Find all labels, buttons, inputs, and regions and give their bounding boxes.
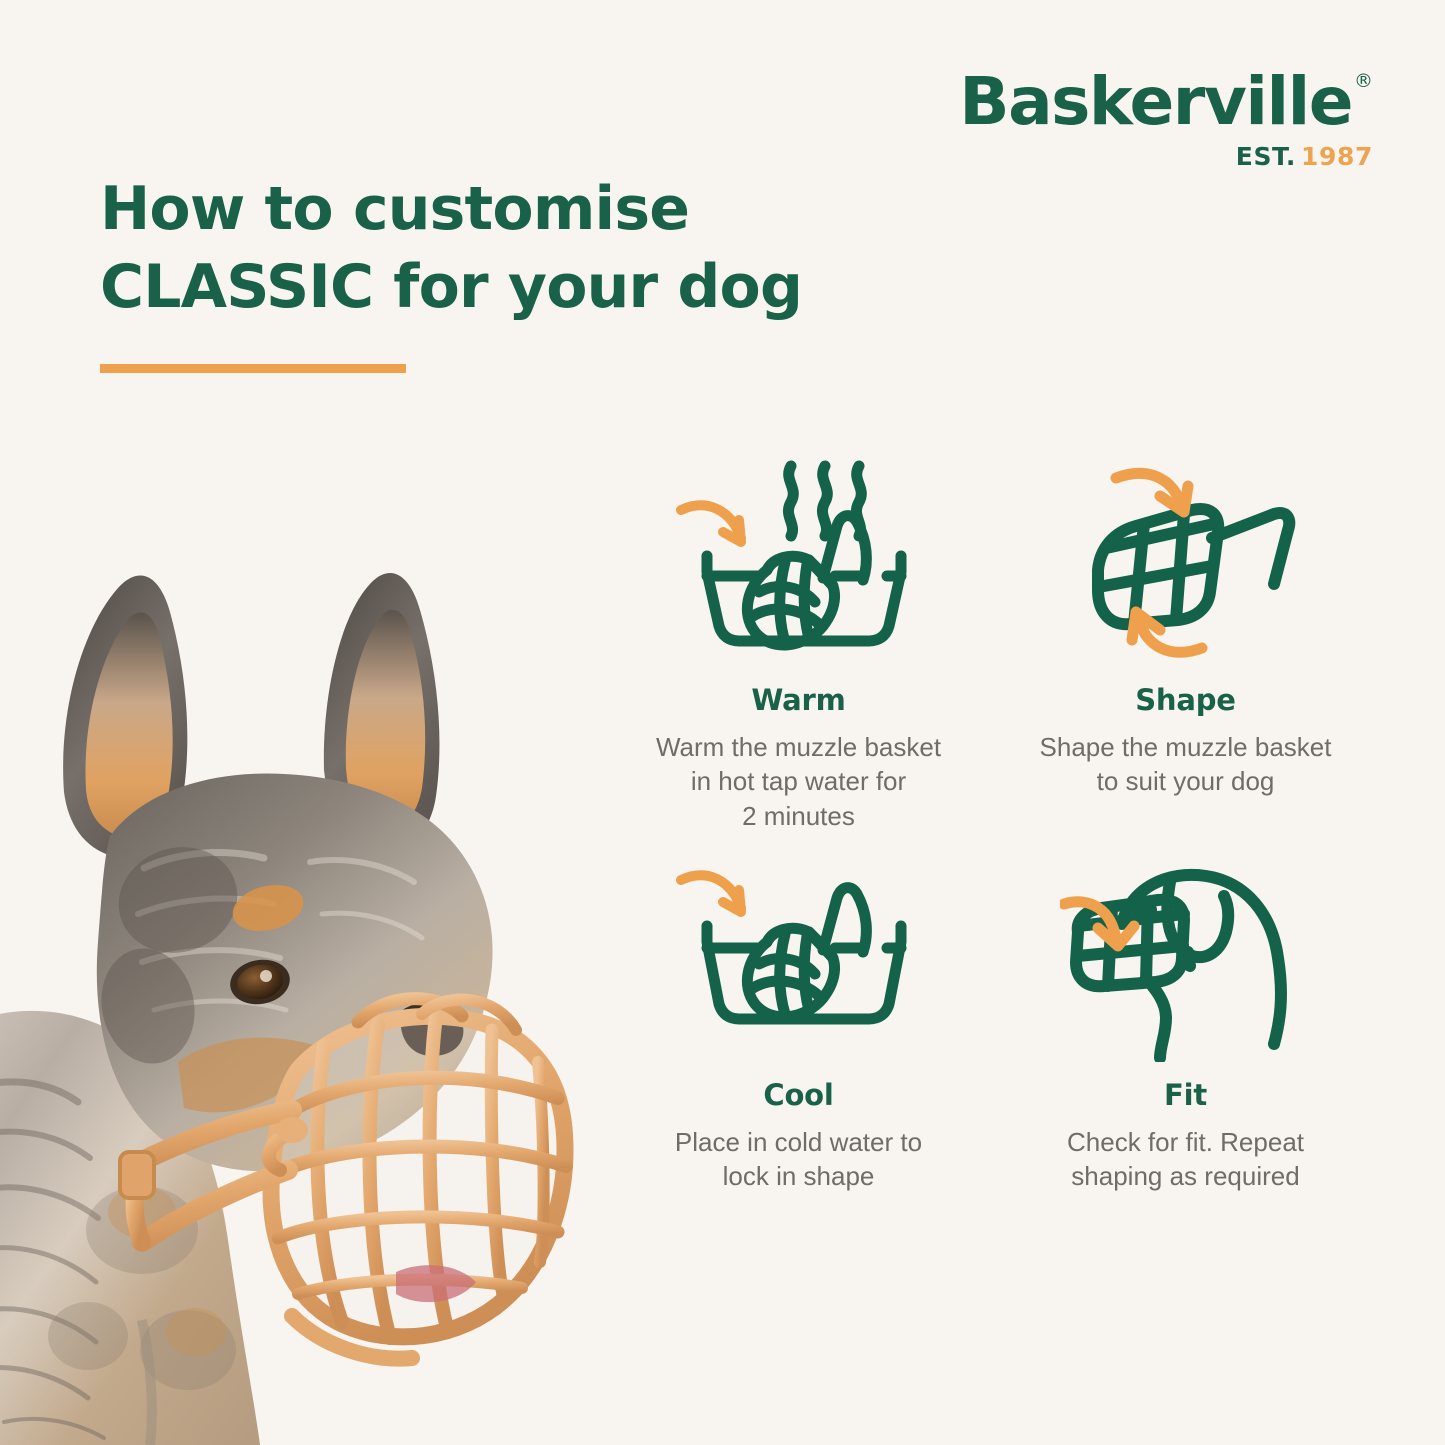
steps-grid: Warm Warm the muzzle basket in hot tap w…: [612, 452, 1372, 1272]
logo-wordmark-row: Baskerville ®: [959, 68, 1373, 135]
step-description: Place in cold water to lock in shape: [675, 1125, 922, 1194]
step-cool: Cool Place in cold water to lock in shap…: [612, 862, 985, 1272]
infographic-page: Baskerville ® EST.1987 How to customise …: [0, 0, 1445, 1445]
headline-underline-rule: [100, 364, 406, 373]
step-warm: Warm Warm the muzzle basket in hot tap w…: [612, 452, 985, 862]
step-title: Cool: [763, 1078, 833, 1112]
step-description: Warm the muzzle basket in hot tap water …: [656, 730, 941, 833]
step-description: Shape the muzzle basket to suit your dog: [1040, 730, 1332, 799]
step-fit: Fit Check for fit. Repeat shaping as req…: [999, 862, 1372, 1272]
dog-photo: [0, 470, 602, 1445]
step-title: Fit: [1164, 1078, 1207, 1112]
brand-established-label: EST.: [1236, 142, 1296, 171]
warm-basin-icon: [673, 452, 925, 667]
cool-basin-icon: [673, 862, 925, 1062]
step-title: Warm: [751, 683, 845, 717]
fit-dog-head-icon: [1060, 862, 1312, 1062]
step-shape: Shape Shape the muzzle basket to suit yo…: [999, 452, 1372, 862]
step-description: Check for fit. Repeat shaping as require…: [1067, 1125, 1304, 1194]
page-title: How to customise CLASSIC for your dog: [100, 171, 880, 326]
brand-established-year: 1987: [1301, 142, 1373, 171]
registered-trademark-icon: ®: [1354, 72, 1373, 91]
brand-established-row: EST.1987: [959, 144, 1373, 169]
brand-logo: Baskerville ® EST.1987: [959, 68, 1373, 169]
brand-wordmark: Baskerville: [959, 68, 1352, 135]
shape-muzzle-icon: [1060, 452, 1312, 667]
step-title: Shape: [1135, 683, 1236, 717]
